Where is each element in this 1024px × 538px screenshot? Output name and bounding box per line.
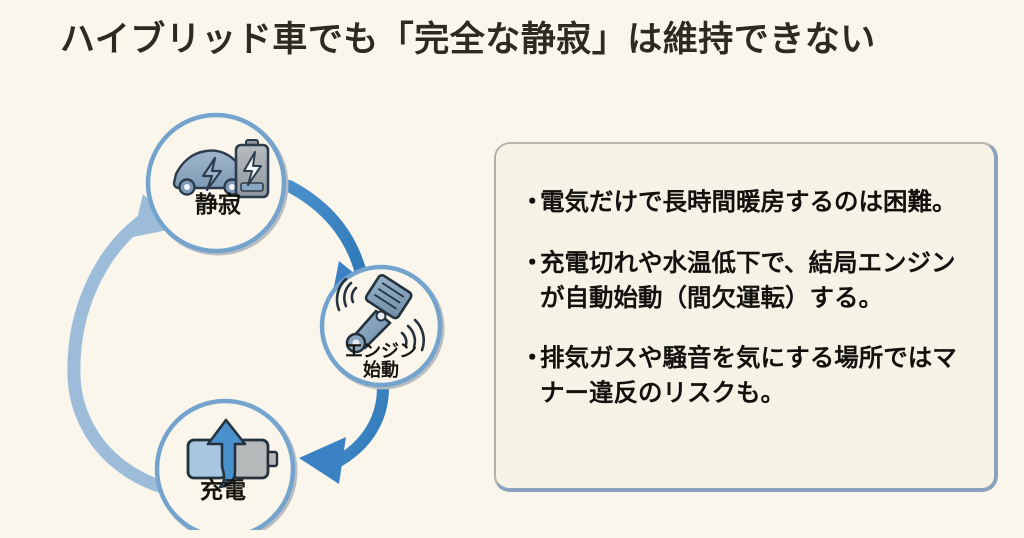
list-item: ・ 排気ガスや騒音を気にする場所ではマナー違反のリスクも。 bbox=[520, 342, 976, 412]
bullet-list: ・ 電気だけで長時間暖房するのは困難。 ・ 充電切れや水温低下で、結局エンジンが… bbox=[520, 186, 976, 412]
list-item-text: 排気ガスや騒音を気にする場所ではマナー違反のリスクも。 bbox=[540, 342, 976, 412]
cycle-node-charge[interactable] bbox=[157, 401, 295, 530]
list-item-text: 電気だけで長時間暖房するのは困難。 bbox=[540, 186, 976, 221]
list-item-text: 充電切れや水温低下で、結局エンジンが自動始動（間欠運転）する。 bbox=[540, 247, 976, 317]
list-item: ・ 充電切れや水温低下で、結局エンジンが自動始動（間欠運転）する。 bbox=[520, 247, 976, 317]
cycle-diagram-svg bbox=[40, 80, 480, 530]
bullet-marker: ・ bbox=[520, 342, 540, 377]
list-item: ・ 電気だけで長時間暖房するのは困難。 bbox=[520, 186, 976, 221]
slide-root: ハイブリッド車でも「完全な静寂」は維持できない bbox=[0, 0, 1024, 538]
key-points-panel: ・ 電気だけで長時間暖房するのは困難。 ・ 充電切れや水温低下で、結局エンジンが… bbox=[494, 142, 998, 492]
cycle-node-quiet[interactable] bbox=[148, 115, 286, 253]
cycle-node-engine-start[interactable] bbox=[322, 267, 442, 387]
bullet-marker: ・ bbox=[520, 247, 540, 282]
cycle-diagram: 静寂 エンジン 始動 充電 bbox=[40, 80, 480, 530]
bullet-marker: ・ bbox=[520, 186, 540, 221]
page-title: ハイブリッド車でも「完全な静寂」は維持できない bbox=[60, 18, 990, 62]
battery-icon bbox=[236, 140, 268, 197]
